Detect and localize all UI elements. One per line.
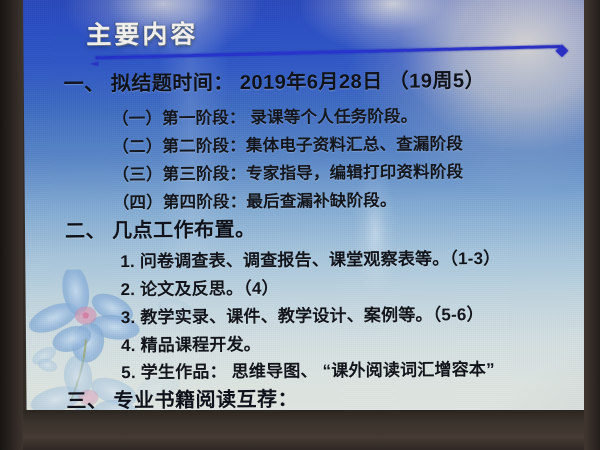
presentation-slide: 主要内容 一、 拟结题时间： 2019年6月28日 （19周5） （一）第一阶段… (23, 0, 589, 427)
bezel-right-edge (584, 0, 600, 450)
bezel-bottom-edge (0, 410, 600, 450)
screenshot-root: 主要内容 一、 拟结题时间： 2019年6月28日 （19周5） （一）第一阶段… (0, 0, 600, 450)
bezel-left-edge (0, 0, 23, 450)
vignette-overlay (23, 0, 589, 427)
